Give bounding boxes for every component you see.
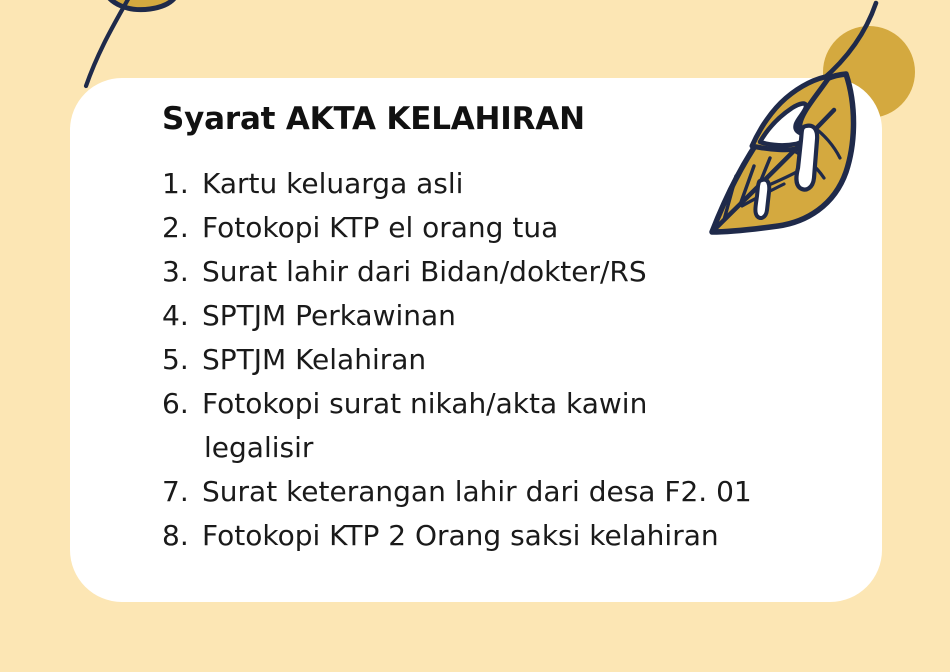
list-item: 8. Fotokopi KTP 2 Orang saksi kelahiran: [162, 514, 822, 558]
list-item-label: Surat keterangan lahir dari desa F2. 01: [202, 470, 822, 514]
list-item-label: Fotokopi surat nikah/akta kawin: [202, 387, 647, 420]
list-item-number: 2.: [162, 206, 202, 250]
list-item-number: 1.: [162, 162, 202, 206]
list-item-label: Surat lahir dari Bidan/dokter/RS: [202, 250, 822, 294]
list-item-label: Fotokopi KTP el orang tua: [202, 206, 822, 250]
poster-canvas: Syarat AKTA KELAHIRAN 1. Kartu keluarga …: [0, 0, 950, 672]
list-item: 3. Surat lahir dari Bidan/dokter/RS: [162, 250, 822, 294]
list-item: 7. Surat keterangan lahir dari desa F2. …: [162, 470, 822, 514]
list-item-number: 6.: [162, 382, 202, 426]
list-item: 1. Kartu keluarga asli: [162, 162, 822, 206]
list-item-label: Fotokopi KTP 2 Orang saksi kelahiran: [202, 514, 822, 558]
gold-leaf-partial-icon: [101, 0, 179, 10]
list-item-label: SPTJM Kelahiran: [202, 338, 822, 382]
list-item: 2. Fotokopi KTP el orang tua: [162, 206, 822, 250]
requirements-list: 1. Kartu keluarga asli 2. Fotokopi KTP e…: [162, 162, 822, 558]
list-item-number: 5.: [162, 338, 202, 382]
page-title: Syarat AKTA KELAHIRAN: [162, 102, 822, 138]
list-item-number: 3.: [162, 250, 202, 294]
list-item-label-wrapped: Fotokopi surat nikah/akta kawin legalisi…: [202, 382, 822, 470]
list-item-label: Kartu keluarga asli: [202, 162, 822, 206]
card-content: Syarat AKTA KELAHIRAN 1. Kartu keluarga …: [162, 102, 822, 558]
list-item: 6. Fotokopi surat nikah/akta kawin legal…: [162, 382, 822, 470]
curved-stem-line-left: [86, 0, 132, 86]
list-item: 4. SPTJM Perkawinan: [162, 294, 822, 338]
list-item-label-continuation: legalisir: [202, 426, 822, 470]
list-item-number: 7.: [162, 470, 202, 514]
list-item-number: 4.: [162, 294, 202, 338]
list-item: 5. SPTJM Kelahiran: [162, 338, 822, 382]
list-item-label: SPTJM Perkawinan: [202, 294, 822, 338]
list-item-number: 8.: [162, 514, 202, 558]
